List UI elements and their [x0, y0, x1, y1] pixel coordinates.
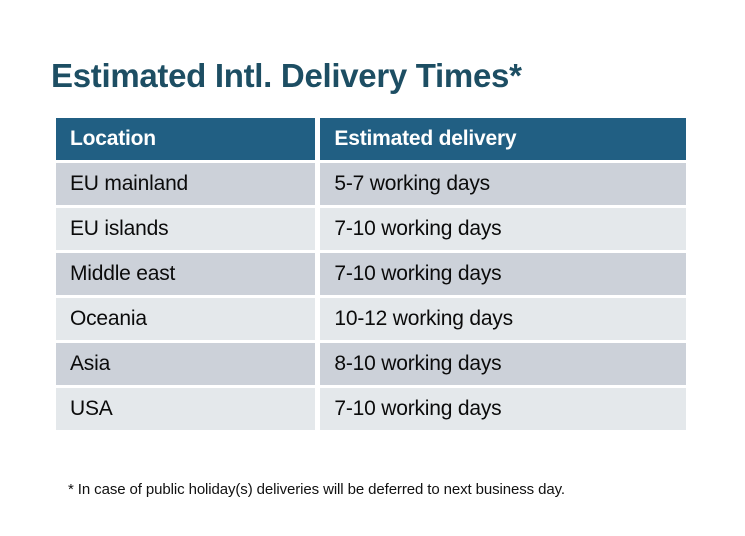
table-row: Asia 8-10 working days	[56, 343, 686, 385]
table-row: Middle east 7-10 working days	[56, 253, 686, 295]
table-header-row: Location Estimated delivery	[56, 118, 686, 160]
cell-location: USA	[56, 388, 315, 430]
table-footnote: * In case of public holiday(s) deliverie…	[68, 481, 565, 498]
cell-location: Asia	[56, 343, 315, 385]
cell-delivery: 5-7 working days	[320, 163, 686, 205]
table-row: USA 7-10 working days	[56, 388, 686, 430]
cell-delivery: 10-12 working days	[320, 298, 686, 340]
table-row: EU islands 7-10 working days	[56, 208, 686, 250]
cell-location: EU mainland	[56, 163, 315, 205]
column-header-location: Location	[56, 118, 315, 160]
column-header-delivery: Estimated delivery	[320, 118, 686, 160]
delivery-times-table: Location Estimated delivery EU mainland …	[51, 115, 691, 433]
cell-location: EU islands	[56, 208, 315, 250]
cell-delivery: 7-10 working days	[320, 208, 686, 250]
table-header: Location Estimated delivery	[56, 118, 686, 160]
cell-delivery: 7-10 working days	[320, 388, 686, 430]
cell-location: Middle east	[56, 253, 315, 295]
cell-delivery: 7-10 working days	[320, 253, 686, 295]
cell-delivery: 8-10 working days	[320, 343, 686, 385]
delivery-times-page: Estimated Intl. Delivery Times* Location…	[0, 0, 745, 536]
table-row: EU mainland 5-7 working days	[56, 163, 686, 205]
page-title: Estimated Intl. Delivery Times*	[51, 59, 522, 92]
cell-location: Oceania	[56, 298, 315, 340]
table-body: EU mainland 5-7 working days EU islands …	[56, 163, 686, 430]
table-row: Oceania 10-12 working days	[56, 298, 686, 340]
